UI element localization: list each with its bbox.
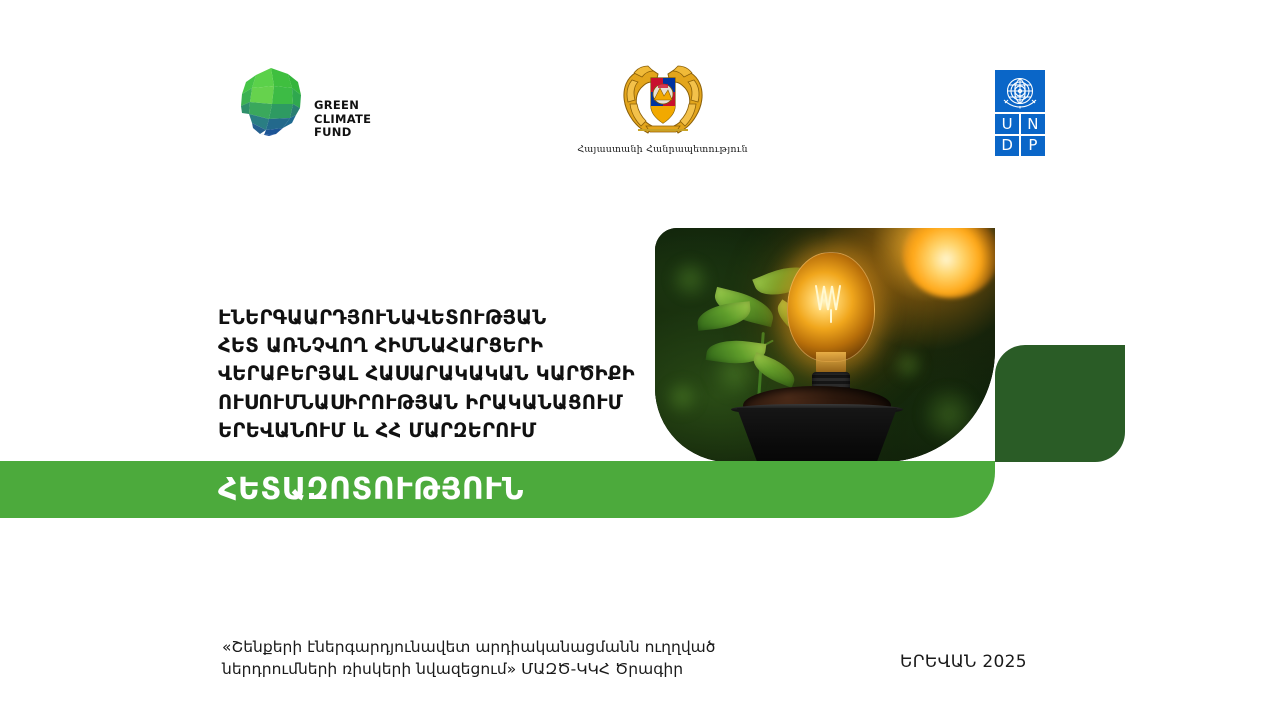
title-line: ՈՒՍՈՒՄՆԱՍԻՐՈՒԹՅԱՆ ԻՐԱԿԱՆԱՑՈՒՄ	[218, 389, 638, 417]
title-line: ԷՆԵՐԳԱԱՐԴՅՈՒՆԱՎԵՏՈՒԹՅԱՆ	[218, 304, 638, 332]
hero-photo	[655, 228, 995, 462]
bokeh-dot	[891, 348, 925, 382]
page-title: ԷՆԵՐԳԱԱՐԴՅՈՒՆԱՎԵՏՈՒԹՅԱՆ ՀԵՏ ԱՌՆՉՎՈՂ ՀԻՄՆ…	[218, 304, 638, 445]
dark-green-accent-block	[995, 345, 1125, 462]
green-banner: ՀԵՏԱԶՈՏՈՒԹՅՈՒՆ	[0, 461, 995, 518]
place-year-footer-text: ԵՐԵՎԱՆ 2025	[900, 652, 1027, 672]
undp-letters: U N D P	[995, 114, 1045, 156]
bulb-filament-icon	[811, 280, 851, 324]
title-line: ՀԵՏ ԱՌՆՉՎՈՂ ՀԻՄՆԱՀԱՐՑԵՐԻ	[218, 332, 638, 360]
undp-logo: U N D P	[995, 70, 1045, 156]
flower-pot	[737, 408, 897, 462]
title-line: ՎԵՐԱԲԵՐՅԱԼ ՀԱՍԱՐԱԿԱԿԱՆ ԿԱՐԾԻՔԻ	[218, 360, 638, 388]
un-emblem-icon	[995, 70, 1045, 112]
banner-label: ՀԵՏԱԶՈՏՈՒԹՅՈՒՆ	[218, 475, 524, 505]
undp-letter-n: N	[1021, 114, 1045, 134]
bokeh-dot	[669, 258, 711, 300]
armenia-coat-of-arms-icon	[618, 60, 708, 142]
bokeh-dot	[919, 386, 979, 442]
undp-letter-p: P	[1021, 136, 1045, 156]
green-climate-fund-logo: GREEN CLIMATE FUND	[236, 66, 386, 161]
green-climate-fund-polygon-globe-icon	[236, 66, 306, 136]
bokeh-dot	[663, 378, 701, 416]
project-footer-text: «Շենքերի էներգարդյունավետ արդիականացմանն…	[222, 636, 792, 680]
report-cover-page: GREEN CLIMATE FUND	[0, 0, 1280, 720]
logo-row: GREEN CLIMATE FUND	[0, 0, 1280, 190]
title-line: ԵՐԵՎԱՆՈՒՄ և ՀՀ ՄԱՐԶԵՐՈՒՄ	[218, 417, 638, 445]
armenia-emblem-logo: Հայաստանի Հանրապետություն	[575, 60, 750, 165]
green-climate-fund-wordmark: GREEN CLIMATE FUND	[314, 99, 371, 140]
undp-letter-d: D	[995, 136, 1019, 156]
undp-letter-u: U	[995, 114, 1019, 134]
armenia-emblem-caption: Հայաստանի Հանրապետություն	[575, 144, 750, 155]
